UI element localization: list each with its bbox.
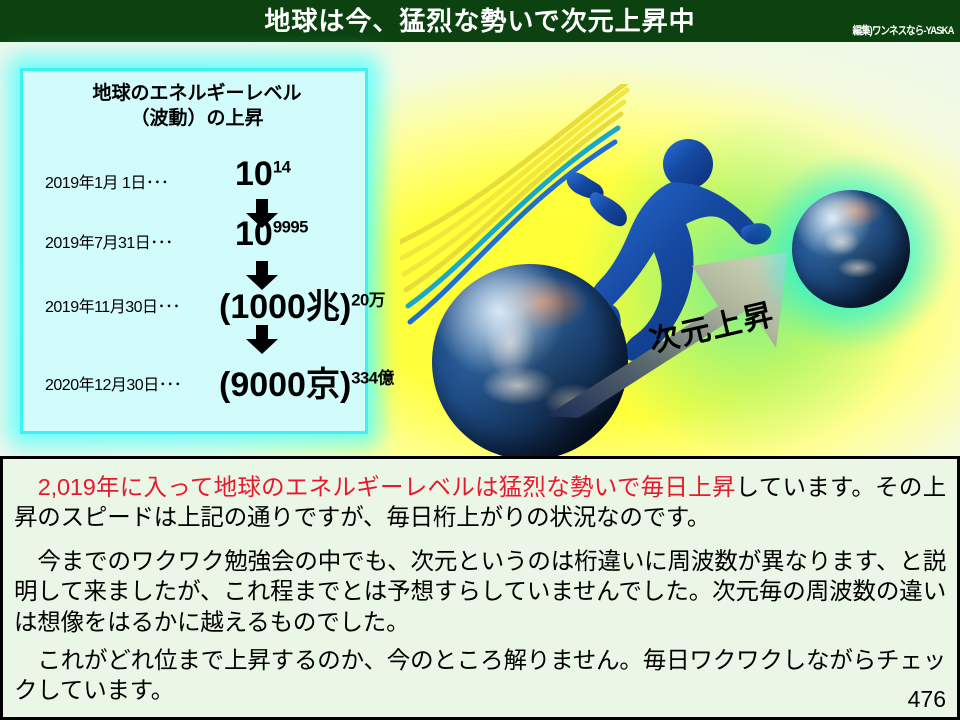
infobox-title-line1: 地球のエネルギーレベル [23,81,371,106]
energy-row-exponent: 14 [273,158,291,177]
page-title: 地球は今、猛烈な勢いで次元上昇中 [0,1,960,41]
energy-row: 2019年1月 1日･･･ 1014 [23,157,371,203]
infobox-title-line2: （波動）の上昇 [23,106,371,131]
energy-row: 2020年12月30日･･･ (9000京)334億 [23,359,371,405]
energy-row-base: 10 [235,215,273,253]
body-paragraph: これがどれ位まで上昇するのか、今のところ解りません。毎日ワクワクしながらチェック… [14,645,946,706]
energy-row-date: 2020年12月30日･･･ [45,371,181,395]
body-paragraph: 今までのワクワク勉強会の中でも、次元というのは桁違いに周波数が異なります、と説明… [14,546,946,637]
energy-row-exponent: 334億 [351,369,393,388]
energy-row-date: 2019年7月31日･･･ [45,229,173,253]
energy-row-base: (1000兆) [219,288,351,326]
energy-row-base: (9000京) [219,366,351,404]
energy-level-box: 地球のエネルギーレベル （波動）の上昇 2019年1月 1日･･･ 1014 2… [20,68,368,434]
slide: 地球は今、猛烈な勢いで次元上昇中 編集)ワンネスなら-YASKA [0,0,960,720]
frame-left-border [0,459,3,720]
energy-row: 2019年11月30日･･･ (1000兆)20万 [23,281,371,327]
energy-row-date: 2019年1月 1日･･･ [45,169,168,193]
body-segment: これがどれ位まで上昇するのか、今のところ解りません。毎日ワクワクしながらチェック… [14,647,946,703]
energy-row: 2019年7月31日･･･ 109995 [23,217,371,263]
earth-small-image [792,190,910,308]
infobox-title: 地球のエネルギーレベル （波動）の上昇 [23,81,371,131]
energy-row-exponent: 9995 [273,218,308,237]
title-bar: 地球は今、猛烈な勢いで次元上昇中 編集)ワンネスなら-YASKA [0,0,960,42]
body-segment: 今までのワクワク勉強会の中でも、次元というのは桁違いに周波数が異なります、と説明… [14,548,946,635]
page-number: 476 [908,686,946,713]
illustration-panel: 次元上昇 地球のエネルギーレベル （波動）の上昇 2019年1月 1日･･･ 1… [0,42,960,458]
energy-row-date: 2019年11月30日･･･ [45,293,180,317]
down-arrow-icon [245,325,279,355]
energy-row-base: 10 [235,155,273,193]
body-segment-highlight: 2,019年に入って地球のエネルギーレベルは猛烈な勢いで毎日上昇 [14,474,736,500]
body-paragraph: 2,019年に入って地球のエネルギーレベルは猛烈な勢いで毎日上昇しています。その… [14,472,946,533]
editor-credit: 編集)ワンネスなら-YASKA [853,22,954,38]
energy-row-exponent: 20万 [351,291,385,310]
